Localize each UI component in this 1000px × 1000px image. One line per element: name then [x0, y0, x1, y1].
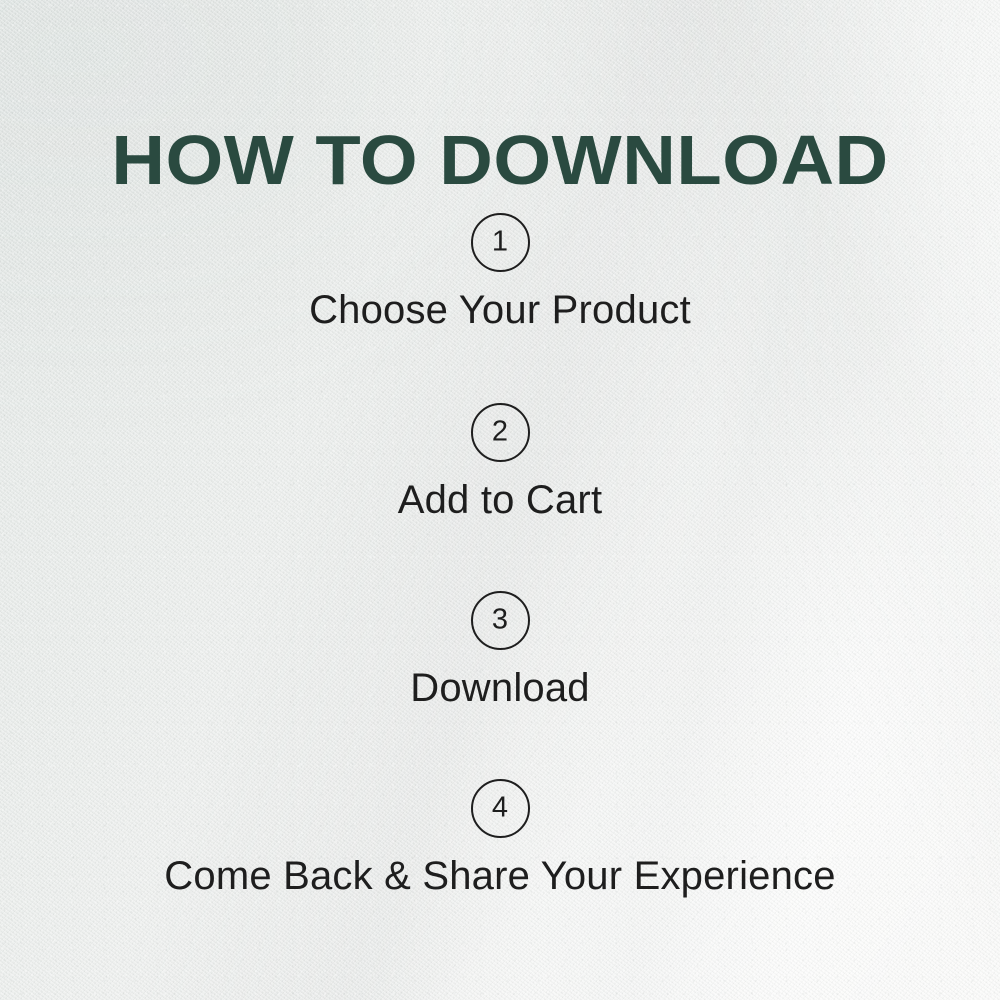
- step-number-4: 4: [492, 794, 508, 823]
- step-item-4: 4 Come Back & Share Your Experience: [0, 779, 1000, 897]
- step-item-2: 2 Add to Cart: [0, 403, 1000, 521]
- step-number-1: 1: [492, 228, 508, 257]
- step-label-2: Add to Cart: [398, 479, 603, 521]
- step-number-badge-3: 3: [471, 591, 530, 650]
- step-item-3: 3 Download: [0, 591, 1000, 709]
- steps-list: 1 Choose Your Product 2 Add to Cart 3 Do…: [0, 213, 1000, 897]
- step-number-3: 3: [492, 606, 508, 635]
- step-number-badge-4: 4: [471, 779, 530, 838]
- step-label-4: Come Back & Share Your Experience: [164, 855, 835, 897]
- step-label-3: Download: [410, 667, 590, 709]
- step-number-2: 2: [492, 418, 508, 447]
- poster-canvas: HOW TO DOWNLOAD 1 Choose Your Product 2 …: [0, 0, 1000, 1000]
- page-title: HOW TO DOWNLOAD: [0, 125, 1000, 195]
- step-number-badge-1: 1: [471, 213, 530, 272]
- step-label-1: Choose Your Product: [309, 289, 691, 331]
- poster-content: HOW TO DOWNLOAD 1 Choose Your Product 2 …: [0, 0, 1000, 1000]
- step-number-badge-2: 2: [471, 403, 530, 462]
- step-item-1: 1 Choose Your Product: [0, 213, 1000, 331]
